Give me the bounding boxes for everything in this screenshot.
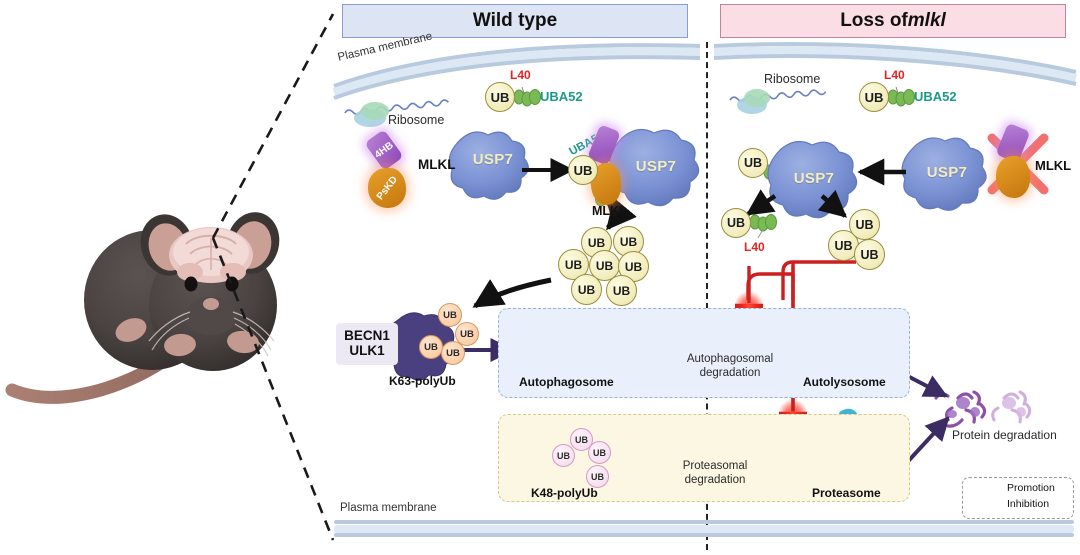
uba52-label-ko: UBA52 (914, 89, 957, 104)
ub-circle-released-ko: UB (721, 208, 751, 238)
panel-header-wild-type-label: Wild type (473, 10, 557, 32)
ribosome-label-ko: Ribosome (764, 72, 820, 86)
degraded-protein-1 (936, 392, 985, 426)
uba52-label-wt-free: UBA52 (540, 89, 583, 104)
mlkl-label-complex-wt: MLKL (592, 204, 627, 218)
ub-text: UB (865, 90, 884, 105)
uba52-tail-ko-free (888, 87, 915, 106)
mlkl-label-wt: MLKL (418, 157, 456, 172)
usp7-label-wt-free: USP7 (458, 128, 528, 190)
k63-polyub-label: K63-polyUb (389, 374, 456, 388)
usp7-label-ko-right: USP7 (911, 140, 983, 204)
k63-ub-item: UB (438, 303, 462, 327)
autolysosome-label: Autolysosome (803, 375, 886, 389)
k48-ub-item: UB (588, 441, 611, 464)
panel-header-loss-of-mlkl: Loss of mlkl (720, 4, 1066, 38)
k48-ub-item: UB (552, 444, 575, 467)
l40-label-ko-top: L40 (884, 68, 905, 82)
ub-circle-uba52-wt: UB (485, 82, 515, 112)
usp7-complex-wt: USP7 (618, 132, 694, 200)
usp7-label-ko-left: USP7 (776, 144, 852, 212)
ribosome-label-wt: Ribosome (388, 113, 444, 127)
k48-polyub-label: K48-polyUb (531, 486, 598, 500)
usp7-right-ko: USP7 (911, 140, 983, 204)
l40-label-wt: L40 (510, 68, 531, 82)
ub-pool-item: UB (571, 274, 602, 305)
mlkl-pskd-domain-wt: PsKD (368, 168, 406, 208)
ub-circle-usp7-ko: UB (738, 148, 768, 178)
degraded-protein-2 (993, 392, 1030, 422)
ub-pool-item: UB (606, 275, 637, 306)
legend-box: Promotion Inhibition (962, 477, 1074, 519)
arrow-ko-split-left (748, 196, 775, 214)
ub-text: UB (727, 216, 745, 230)
k63-ub-item: UB (441, 341, 465, 365)
ub-text: UB (491, 90, 510, 105)
k63-ub-item: UB (419, 335, 443, 359)
free-ub-item: UB (849, 209, 880, 240)
becn1-label: BECN1 (344, 329, 390, 344)
loss-prefix-label: Loss of (840, 10, 908, 32)
ribosome-mrna-right (730, 89, 826, 102)
brain-overlay (169, 227, 253, 283)
uba52-tail-wt-free (514, 87, 541, 106)
k48-ub-item: UB (586, 465, 609, 488)
ub-text: UB (574, 163, 593, 178)
uba52-tail-ko-released (750, 215, 777, 239)
l40-label-ko-released: L40 (744, 240, 765, 254)
loss-gene-label: mlkl (908, 10, 946, 32)
proteasomal-degradation-label: Proteasomal degradation (645, 460, 785, 487)
becn1-ulk1-label-box: BECN1 ULK1 (336, 323, 398, 365)
proteasome-label: Proteasome (812, 486, 881, 500)
mlkl-label-ko: MLKL (1035, 158, 1071, 173)
autophagosome-label: Autophagosome (519, 375, 614, 389)
panel-header-wild-type: Wild type (342, 4, 688, 38)
free-ub-item: UB (854, 239, 885, 270)
ub-circle-uba52-ko: UB (859, 82, 889, 112)
ulk1-label: ULK1 (349, 344, 384, 359)
plasma-membrane-bottom-label: Plasma membrane (340, 502, 437, 514)
degraded-protein-2-blobs (1002, 397, 1026, 417)
legend-inhibition-label: Inhibition (1007, 498, 1049, 510)
autophagosomal-degradation-label: Autophagosomal degradation (655, 353, 805, 380)
protein-degradation-label: Protein degradation (952, 428, 1057, 442)
mlkl-pskd-label-wt: PsKD (360, 161, 415, 216)
mlkl-pskd-domain-ko (996, 156, 1030, 198)
usp7-left-ko: USP7 (776, 144, 852, 212)
degraded-protein-1-blobs (947, 397, 980, 418)
legend-promotion-label: Promotion (1007, 482, 1055, 494)
ub-circle-complex-wt: UB (568, 155, 598, 185)
plasma-membrane-bottom (334, 520, 1074, 538)
usp7-label-wt-complex: USP7 (618, 132, 694, 200)
ub-text: UB (744, 156, 762, 170)
figure-canvas: Wild type Loss of mlkl Plasma membrane P… (0, 0, 1080, 555)
ribosome-body-right (737, 89, 770, 114)
zoom-callout-lines (213, 14, 333, 540)
mouse-illustration (12, 207, 286, 398)
arrow-ubpool-to-becn1 (475, 280, 551, 306)
usp7-free-wt: USP7 (458, 128, 528, 190)
ribosome-body-left (354, 102, 389, 127)
